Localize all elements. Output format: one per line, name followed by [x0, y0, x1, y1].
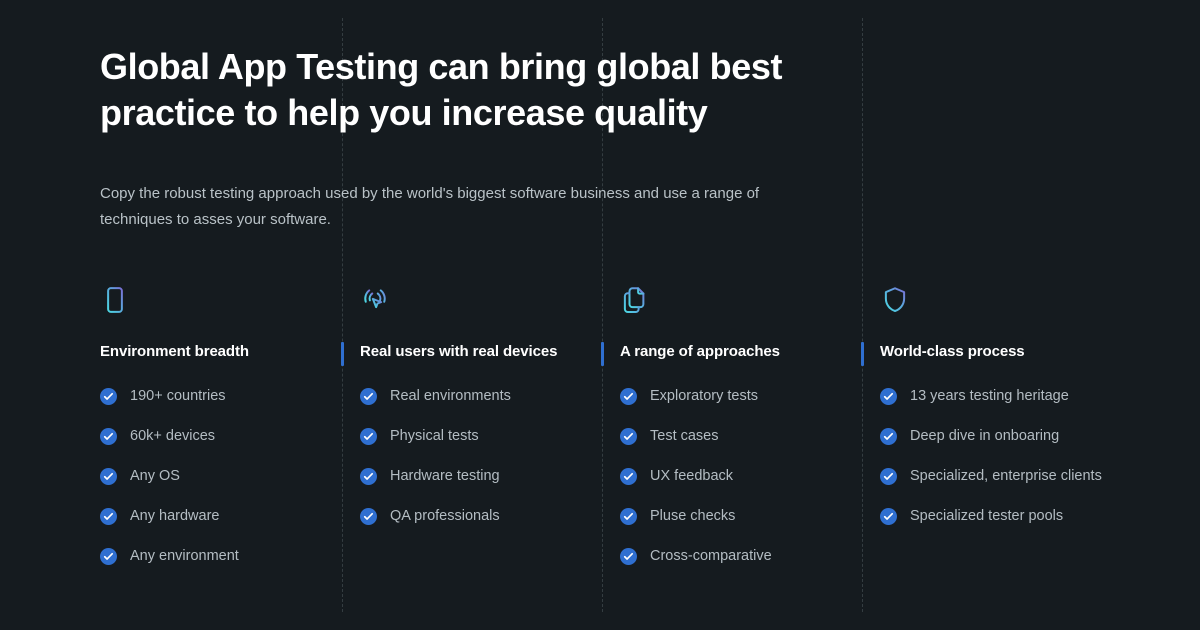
list-item: Real environments	[360, 387, 575, 406]
feature-list: Exploratory tests Test cases UX feedback	[620, 387, 835, 566]
list-item: Specialized tester pools	[880, 507, 1105, 526]
feature-list: 13 years testing heritage Deep dive in o…	[880, 387, 1105, 526]
column-title: Real users with real devices	[360, 341, 575, 363]
feature-column-environment-breadth: Environment breadth 190+ countries 60k+ …	[100, 285, 315, 587]
feature-grid-page: Global App Testing can bring global best…	[0, 0, 1200, 630]
list-item: UX feedback	[620, 467, 835, 486]
column-title: Environment breadth	[100, 341, 315, 363]
list-item-label: 190+ countries	[130, 387, 226, 406]
list-item-label: Pluse checks	[650, 507, 735, 526]
column-accent-bar	[341, 342, 344, 366]
column-accent-bar	[861, 342, 864, 366]
list-item-label: Any environment	[130, 547, 239, 566]
check-circle-icon	[620, 468, 637, 485]
check-circle-icon	[880, 388, 897, 405]
feature-list: 190+ countries 60k+ devices Any OS	[100, 387, 315, 566]
list-item-label: QA professionals	[390, 507, 500, 526]
check-circle-icon	[360, 388, 377, 405]
column-accent-bar	[601, 342, 604, 366]
column-divider-3	[862, 18, 864, 612]
check-circle-icon	[880, 468, 897, 485]
check-circle-icon	[100, 508, 117, 525]
check-circle-icon	[620, 388, 637, 405]
page-title: Global App Testing can bring global best…	[100, 44, 800, 136]
copy-documents-icon	[620, 285, 650, 315]
list-item-label: 60k+ devices	[130, 427, 215, 446]
list-item-label: Hardware testing	[390, 467, 500, 486]
feature-list: Real environments Physical tests Hardwar…	[360, 387, 575, 526]
list-item-label: UX feedback	[650, 467, 733, 486]
check-circle-icon	[100, 388, 117, 405]
check-circle-icon	[100, 548, 117, 565]
list-item: 190+ countries	[100, 387, 315, 406]
list-item: Exploratory tests	[620, 387, 835, 406]
shield-icon	[880, 285, 910, 315]
check-circle-icon	[880, 508, 897, 525]
feature-column-approaches: A range of approaches Exploratory tests …	[620, 285, 835, 587]
check-circle-icon	[620, 428, 637, 445]
check-circle-icon	[100, 428, 117, 445]
check-circle-icon	[100, 468, 117, 485]
list-item-label: Real environments	[390, 387, 511, 406]
column-title: A range of approaches	[620, 341, 835, 363]
list-item: Hardware testing	[360, 467, 575, 486]
list-item-label: Exploratory tests	[650, 387, 758, 406]
list-item: Test cases	[620, 427, 835, 446]
check-circle-icon	[360, 508, 377, 525]
list-item-label: Test cases	[650, 427, 719, 446]
column-title: World-class process	[880, 341, 1105, 363]
column-heading-wrap: World-class process	[880, 341, 1105, 365]
list-item: Any OS	[100, 467, 315, 486]
list-item-label: Deep dive in onboaring	[910, 427, 1059, 446]
list-item-label: 13 years testing heritage	[910, 387, 1069, 406]
list-item: QA professionals	[360, 507, 575, 526]
list-item-label: Specialized, enterprise clients	[910, 467, 1102, 486]
feature-column-world-class-process: World-class process 13 years testing her…	[880, 285, 1105, 547]
feature-column-real-users: Real users with real devices Real enviro…	[360, 285, 575, 547]
column-heading-wrap: Real users with real devices	[360, 341, 575, 365]
list-item: Any hardware	[100, 507, 315, 526]
check-circle-icon	[620, 548, 637, 565]
check-circle-icon	[360, 468, 377, 485]
list-item: Physical tests	[360, 427, 575, 446]
list-item: Specialized, enterprise clients	[880, 467, 1105, 486]
check-circle-icon	[360, 428, 377, 445]
list-item: 60k+ devices	[100, 427, 315, 446]
list-item: Pluse checks	[620, 507, 835, 526]
list-item-label: Any OS	[130, 467, 180, 486]
list-item: Cross-comparative	[620, 547, 835, 566]
mobile-phone-icon	[100, 285, 130, 315]
list-item-label: Specialized tester pools	[910, 507, 1063, 526]
check-circle-icon	[620, 508, 637, 525]
column-heading-wrap: Environment breadth	[100, 341, 315, 365]
list-item-label: Cross-comparative	[650, 547, 772, 566]
list-item-label: Physical tests	[390, 427, 479, 446]
page-subtitle: Copy the robust testing approach used by…	[100, 181, 790, 233]
click-signal-icon	[360, 285, 390, 315]
column-heading-wrap: A range of approaches	[620, 341, 835, 365]
check-circle-icon	[880, 428, 897, 445]
list-item: Deep dive in onboaring	[880, 427, 1105, 446]
list-item: Any environment	[100, 547, 315, 566]
list-item: 13 years testing heritage	[880, 387, 1105, 406]
list-item-label: Any hardware	[130, 507, 219, 526]
